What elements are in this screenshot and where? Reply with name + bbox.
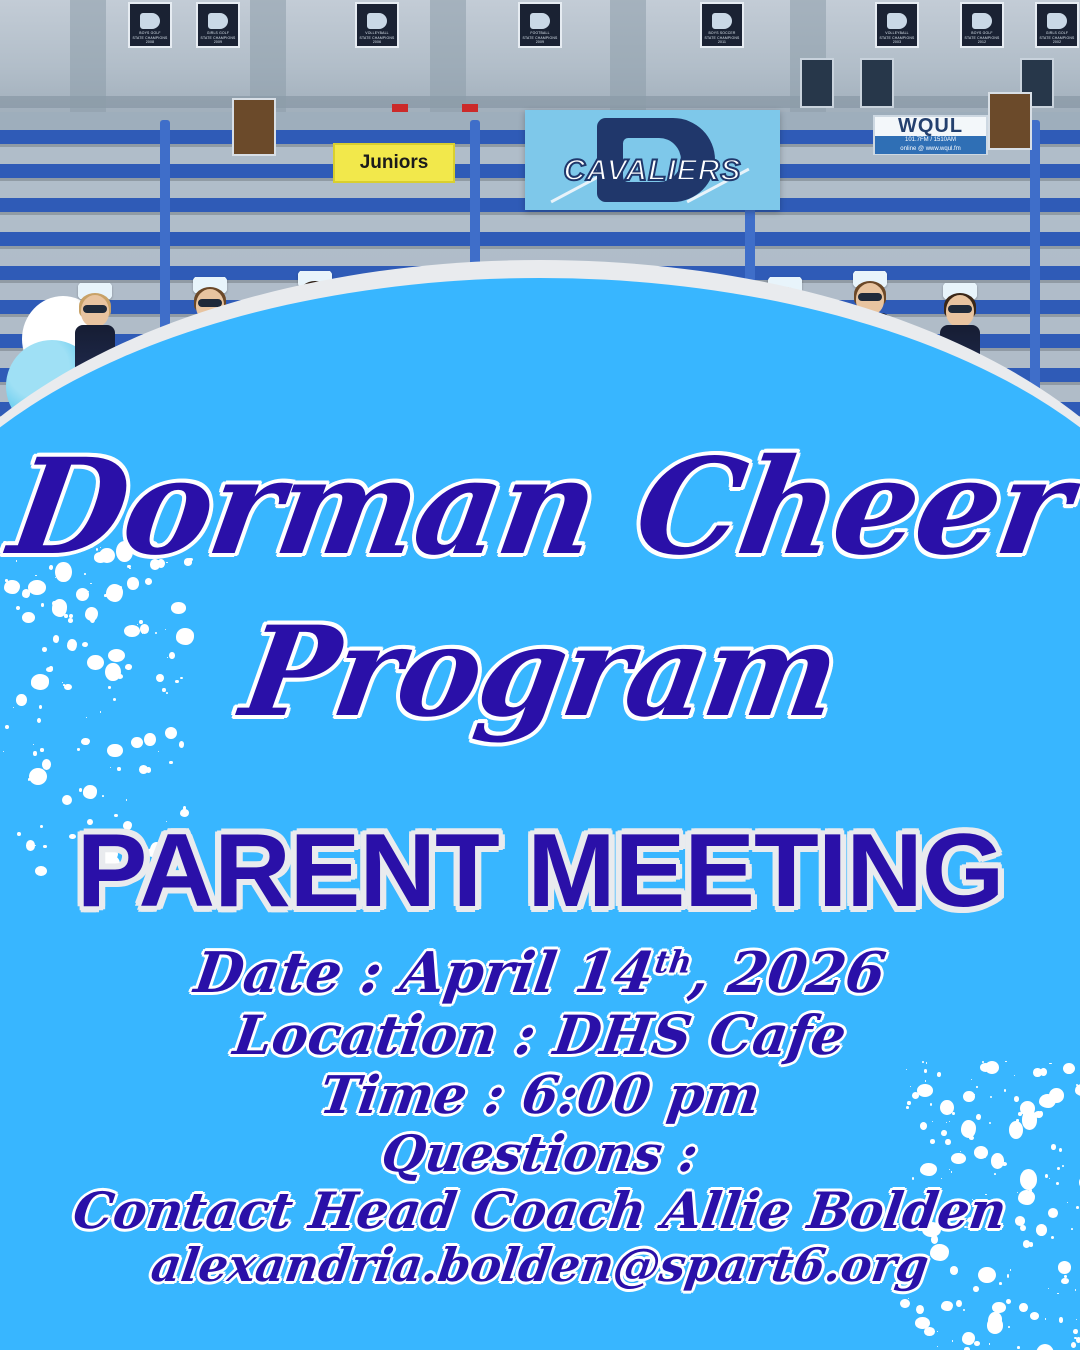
- wall-stripe: [0, 96, 1080, 108]
- dorman-d-icon: [887, 13, 907, 29]
- wqul-website: online @ www.wqul.fm: [875, 145, 986, 154]
- splatter-dot: [941, 1301, 953, 1312]
- championship-banner-text: FOOTBALLSTATE CHAMPIONS2009: [523, 31, 558, 44]
- championship-banner-text: BOYS GOLFSTATE CHAMPIONS2008: [133, 31, 168, 44]
- poster-canvas: BOYS GOLFSTATE CHAMPIONS2008GIRLS GOLFST…: [0, 0, 1080, 1350]
- championship-banner: VOLLEYBALLSTATE CHAMPIONS2006: [355, 2, 399, 48]
- dorman-d-icon: [1047, 13, 1067, 29]
- wqul-frequency: 101.7FM / 1510AM: [875, 136, 986, 145]
- championship-banner: BOYS GOLFSTATE CHAMPIONS2008: [128, 2, 172, 48]
- cavaliers-banner-text: CAVALIERS: [525, 154, 780, 188]
- exit-sign: [462, 104, 478, 112]
- splatter-dot: [916, 1305, 924, 1314]
- championship-banner-text: VOLLEYBALLSTATE CHAMPIONS2006: [360, 31, 395, 44]
- championship-banner: BOYS SOCCERSTATE CHAMPIONS2011: [700, 2, 744, 48]
- splatter-dot: [1008, 1326, 1010, 1328]
- championship-banner: VOLLEYBALLSTATE CHAMPIONS2003: [875, 2, 919, 48]
- splatter-dot: [1006, 1299, 1011, 1305]
- splatter-dot: [1019, 1303, 1027, 1312]
- splatter-dot: [1076, 1337, 1080, 1343]
- detail-time: Time : 6:00 pm: [0, 1069, 1080, 1122]
- championship-banner-text: GIRLS GOLFSTATE CHAMPIONS2009: [201, 31, 236, 44]
- wqul-callsign: WQUL: [898, 116, 963, 136]
- dorman-d-icon: [712, 13, 732, 29]
- dorman-d-icon: [367, 13, 387, 29]
- dorman-d-icon: [140, 13, 160, 29]
- splatter-dot: [924, 1327, 934, 1336]
- sunglasses-icon: [948, 305, 972, 313]
- juniors-banner: Juniors: [333, 143, 455, 183]
- wall-window: [800, 58, 834, 108]
- wall-window: [860, 58, 894, 108]
- splatter-dot: [1036, 1344, 1054, 1350]
- wall-panel: [430, 0, 466, 120]
- championship-banner-text: BOYS GOLFSTATE CHAMPIONS2012: [965, 31, 1000, 44]
- splatter-dot: [1017, 1346, 1020, 1349]
- championship-banner: GIRLS GOLFSTATE CHAMPIONS2009: [196, 2, 240, 48]
- splatter-dot: [915, 1317, 930, 1329]
- splatter-dot: [974, 1341, 980, 1346]
- cavaliers-banner: CAVALIERS: [525, 110, 780, 210]
- dorman-d-icon: [208, 13, 228, 29]
- splatter-dot: [962, 1332, 975, 1345]
- splatter-dot: [952, 1340, 954, 1342]
- splatter-dot: [937, 1346, 938, 1347]
- championship-banner: FOOTBALLSTATE CHAMPIONS2009: [518, 2, 562, 48]
- detail-location: Location : DHS Cafe: [0, 1008, 1080, 1063]
- splatter-dot: [1073, 1329, 1078, 1334]
- splatter-dot: [908, 1298, 909, 1299]
- juniors-banner-text: Juniors: [360, 152, 429, 174]
- dorman-d-icon: [972, 13, 992, 29]
- detail-questions: Questions :: [0, 1128, 1080, 1179]
- splatter-dot: [1071, 1342, 1077, 1348]
- splatter-dot: [987, 1317, 1003, 1333]
- dorman-d-icon: [530, 13, 550, 29]
- splatter-dot: [1030, 1312, 1039, 1320]
- detail-contact: Contact Head Coach Allie Bolden: [0, 1185, 1080, 1236]
- splatter-dot: [1059, 1317, 1064, 1322]
- splatter-dot: [900, 1299, 910, 1309]
- title-line-1: Dorman Cheer: [0, 430, 1080, 585]
- detail-date: Date : April 14th, 2026: [0, 945, 1080, 1002]
- splatter-dot: [963, 1309, 965, 1311]
- championship-banner: BOYS GOLFSTATE CHAMPIONS2012: [960, 2, 1004, 48]
- splatter-dot: [992, 1302, 1005, 1313]
- wqul-sign: WQUL 101.7FM / 1510AM online @ www.wqul.…: [873, 115, 988, 155]
- splatter-dot: [956, 1300, 962, 1307]
- championship-banner-text: BOYS SOCCERSTATE CHAMPIONS2011: [705, 31, 740, 44]
- wall-panel: [70, 0, 106, 120]
- gym-door: [988, 92, 1032, 150]
- sunglasses-icon: [858, 293, 882, 301]
- gym-door: [232, 98, 276, 156]
- splatter-dot: [1074, 1337, 1077, 1340]
- splatter-dot: [1045, 1318, 1046, 1319]
- splatter-dot: [997, 1304, 999, 1306]
- championship-banner-text: VOLLEYBALLSTATE CHAMPIONS2003: [880, 31, 915, 44]
- championship-banner-text: GIRLS GOLFSTATE CHAMPIONS2002: [1040, 31, 1075, 44]
- page-headline: PARENT MEETING: [0, 812, 1080, 931]
- splatter-dot: [989, 1343, 991, 1345]
- splatter-dot: [1076, 1319, 1077, 1320]
- exit-sign: [392, 104, 408, 112]
- title-line-2: Program: [0, 600, 1080, 745]
- splatter-dot: [937, 1331, 938, 1332]
- championship-banner: GIRLS GOLFSTATE CHAMPIONS2002: [1035, 2, 1079, 48]
- event-details: Date : April 14th, 2026 Location : DHS C…: [0, 945, 1080, 1295]
- detail-email[interactable]: alexandria.bolden@spart6.org: [0, 1242, 1080, 1289]
- wall-panel: [610, 0, 646, 120]
- sunglasses-icon: [83, 305, 107, 313]
- splatter-dot: [988, 1312, 1001, 1328]
